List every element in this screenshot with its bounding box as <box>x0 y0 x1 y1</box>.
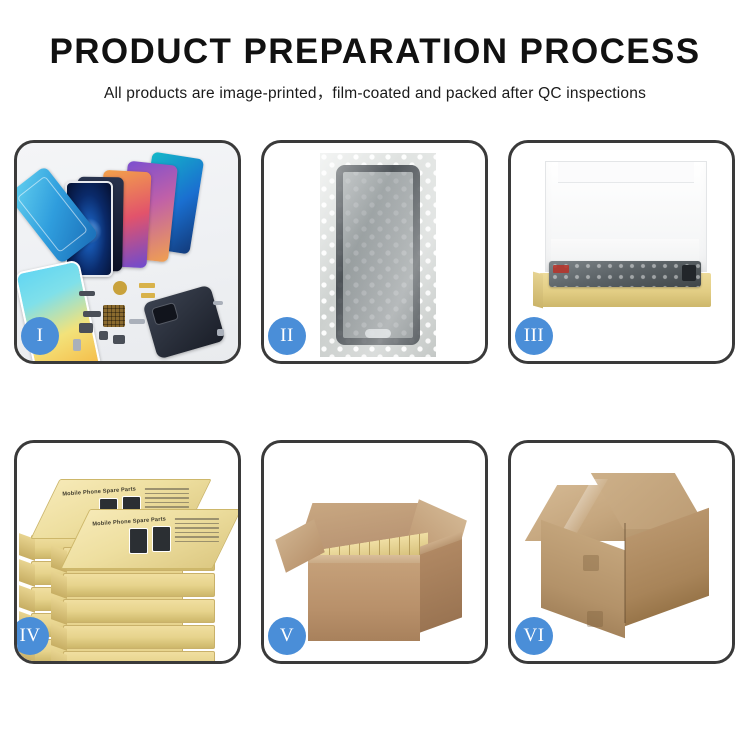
component-sim-tray <box>73 339 81 351</box>
photo-stacked-retail-boxes: Mobile Phone Spare Parts Mobile Phone Sp… <box>17 443 238 661</box>
step-badge-2: II <box>268 317 306 355</box>
component-bracket <box>129 319 145 324</box>
process-step-6: VI <box>508 440 735 664</box>
header: PRODUCT PREPARATION PROCESS All products… <box>0 0 750 103</box>
step-badge-3: III <box>515 317 553 355</box>
page-title: PRODUCT PREPARATION PROCESS <box>0 30 750 74</box>
carton-flap-tab-upper <box>583 555 599 571</box>
box-phone-graphic-4 <box>152 526 171 552</box>
process-step-4: Mobile Phone Spare Parts Mobile Phone Sp… <box>14 440 241 664</box>
product-preparation-infographic: PRODUCT PREPARATION PROCESS All products… <box>0 0 750 750</box>
wrapped-phone-screen <box>336 165 420 345</box>
component-button-strip <box>83 311 101 317</box>
component-speaker-coil <box>113 281 127 295</box>
wrapped-screen-in-box <box>549 261 701 287</box>
component-flex-cable-2 <box>141 293 155 298</box>
step-badge-1: I <box>21 317 59 355</box>
component-flex-cable-1 <box>139 283 155 288</box>
component-camera-module <box>79 323 93 333</box>
page-subtitle: All products are image-printed，film-coat… <box>0 81 750 103</box>
process-steps-grid: I II III <box>14 140 736 664</box>
carton-front-panel <box>308 563 420 641</box>
carton-vertical-edge <box>624 523 626 623</box>
carton-flap-tab-lower <box>587 611 603 627</box>
component-microphone <box>113 335 125 344</box>
process-step-5: V <box>261 440 488 664</box>
retail-box-lid-front: Mobile Phone Spare Parts <box>60 509 238 569</box>
component-chip-array <box>103 305 125 327</box>
component-connector <box>79 291 95 296</box>
process-step-2: II <box>261 140 488 364</box>
step-badge-5: V <box>268 617 306 655</box>
box-spec-lines-front <box>175 518 219 548</box>
component-vibrator <box>99 331 108 340</box>
box-stack: Mobile Phone Spare Parts Mobile Phone Sp… <box>17 443 238 661</box>
process-step-3: III <box>508 140 735 364</box>
box-phone-graphic-3 <box>129 528 148 554</box>
component-screws <box>217 329 224 336</box>
component-tool-tweezers <box>213 301 223 305</box>
process-step-1: I <box>14 140 241 364</box>
carton-side-panel <box>420 539 462 632</box>
step-badge-6: VI <box>515 617 553 655</box>
